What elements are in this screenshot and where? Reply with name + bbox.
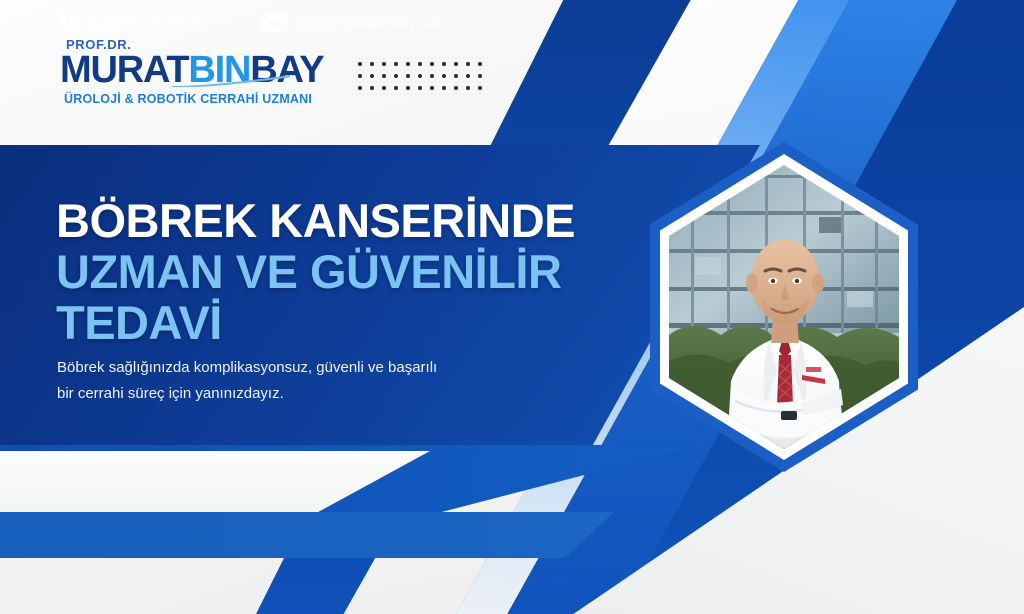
contact-bar xyxy=(0,512,614,558)
promo-banner: PROF.DR. MURATBINBAY ÜROLOJİ & ROBOTİK C… xyxy=(0,0,1024,614)
headline-block: BÖBREK KANSERİNDE UZMAN VE GÜVENİLİR TED… xyxy=(56,196,616,348)
phone-ringing-icon xyxy=(58,13,79,34)
envelope-icon xyxy=(262,14,287,33)
contact-email[interactable]: info@muratbinbay.com xyxy=(262,0,446,46)
subcopy-block: Böbrek sağlığınızda komplikasyonsuz, güv… xyxy=(57,355,527,408)
headline-line-1: BÖBREK KANSERİNDE xyxy=(56,196,616,247)
logo-wordmark: MURATBINBAY xyxy=(60,51,320,90)
logo-subtitle: ÜROLOJİ & ROBOTİK CERRAHİ UZMANI xyxy=(64,92,320,106)
subcopy-line-2: bir cerrahi süreç için yanınızdayız. xyxy=(57,381,527,407)
subcopy-line-1: Böbrek sağlığınızda komplikasyonsuz, güv… xyxy=(57,355,527,381)
portrait-hexagon xyxy=(650,142,918,472)
headline-line-2: UZMAN VE GÜVENİLİR xyxy=(56,247,616,298)
brand-logo[interactable]: PROF.DR. MURATBINBAY ÜROLOJİ & ROBOTİK C… xyxy=(60,38,320,106)
contact-phone[interactable]: 0 (530) 100 90 85 xyxy=(58,0,204,46)
headline-line-3: TEDAVİ xyxy=(56,298,616,349)
contact-email-text: info@muratbinbay.com xyxy=(298,15,446,31)
logo-word-bin: BIN xyxy=(188,49,250,91)
logo-word-murat: MURAT xyxy=(60,49,188,91)
dot-grid-icon xyxy=(358,62,490,98)
logo-word-bay: BAY xyxy=(250,49,323,91)
contact-phone-text: 0 (530) 100 90 85 xyxy=(90,15,204,31)
